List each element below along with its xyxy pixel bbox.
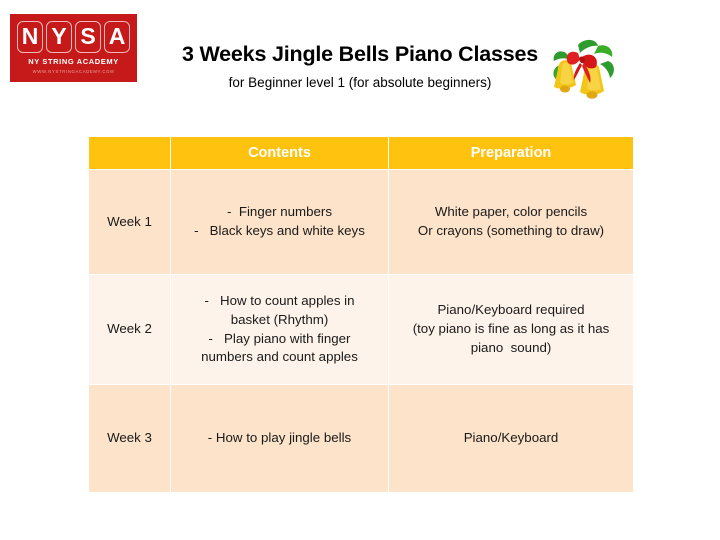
table-header-row: Contents Preparation <box>89 137 634 170</box>
preparation-line: (toy piano is fine as long as it has <box>389 320 633 339</box>
preparation-line: Piano/Keyboard <box>389 429 633 448</box>
contents-line: - Play piano with finger <box>171 330 388 349</box>
contents-line: numbers and count apples <box>171 348 388 367</box>
preparation-cell: Piano/Keyboard <box>389 385 634 493</box>
column-header-preparation: Preparation <box>389 137 634 170</box>
table-row: Week 2 - How to count apples in basket (… <box>89 275 634 385</box>
week-label: Week 1 <box>89 170 171 275</box>
table-row: Week 1 - Finger numbers - Black keys and… <box>89 170 634 275</box>
contents-line: - How to play jingle bells <box>171 429 388 448</box>
contents-line: - Black keys and white keys <box>171 222 388 241</box>
page-title: 3 Weeks Jingle Bells Piano Classes <box>160 42 560 67</box>
contents-cell: - Finger numbers - Black keys and white … <box>171 170 389 275</box>
christmas-bells-icon <box>540 33 620 105</box>
header-title-block: 3 Weeks Jingle Bells Piano Classes for B… <box>160 42 560 90</box>
preparation-line: Or crayons (something to draw) <box>389 222 633 241</box>
nysa-logo: N Y S A NY STRING ACADEMY WWW.NYSTRINGAC… <box>10 14 137 82</box>
week-label: Week 2 <box>89 275 171 385</box>
week-label: Week 3 <box>89 385 171 493</box>
contents-line: basket (Rhythm) <box>171 311 388 330</box>
preparation-cell: Piano/Keyboard required (toy piano is fi… <box>389 275 634 385</box>
logo-letter-y: Y <box>46 21 72 53</box>
column-header-week <box>89 137 171 170</box>
contents-cell: - How to count apples in basket (Rhythm)… <box>171 275 389 385</box>
logo-letters: N Y S A <box>17 21 130 53</box>
logo-letter-n: N <box>17 21 43 53</box>
preparation-line: Piano/Keyboard required <box>389 301 633 320</box>
page-subtitle: for Beginner level 1 (for absolute begin… <box>160 75 560 90</box>
logo-letter-a: A <box>104 21 130 53</box>
column-header-contents: Contents <box>171 137 389 170</box>
contents-line: - Finger numbers <box>171 203 388 222</box>
table-row: Week 3 - How to play jingle bells Piano/… <box>89 385 634 493</box>
logo-website-url: WWW.NYSTRINGACADEMY.COM <box>33 69 115 74</box>
contents-cell: - How to play jingle bells <box>171 385 389 493</box>
class-schedule-table: Contents Preparation Week 1 - Finger num… <box>88 136 634 493</box>
preparation-line: piano sound) <box>389 339 633 358</box>
preparation-line: White paper, color pencils <box>389 203 633 222</box>
contents-line: - How to count apples in <box>171 292 388 311</box>
logo-letter-s: S <box>75 21 101 53</box>
logo-academy-name: NY STRING ACADEMY <box>28 57 119 66</box>
preparation-cell: White paper, color pencils Or crayons (s… <box>389 170 634 275</box>
